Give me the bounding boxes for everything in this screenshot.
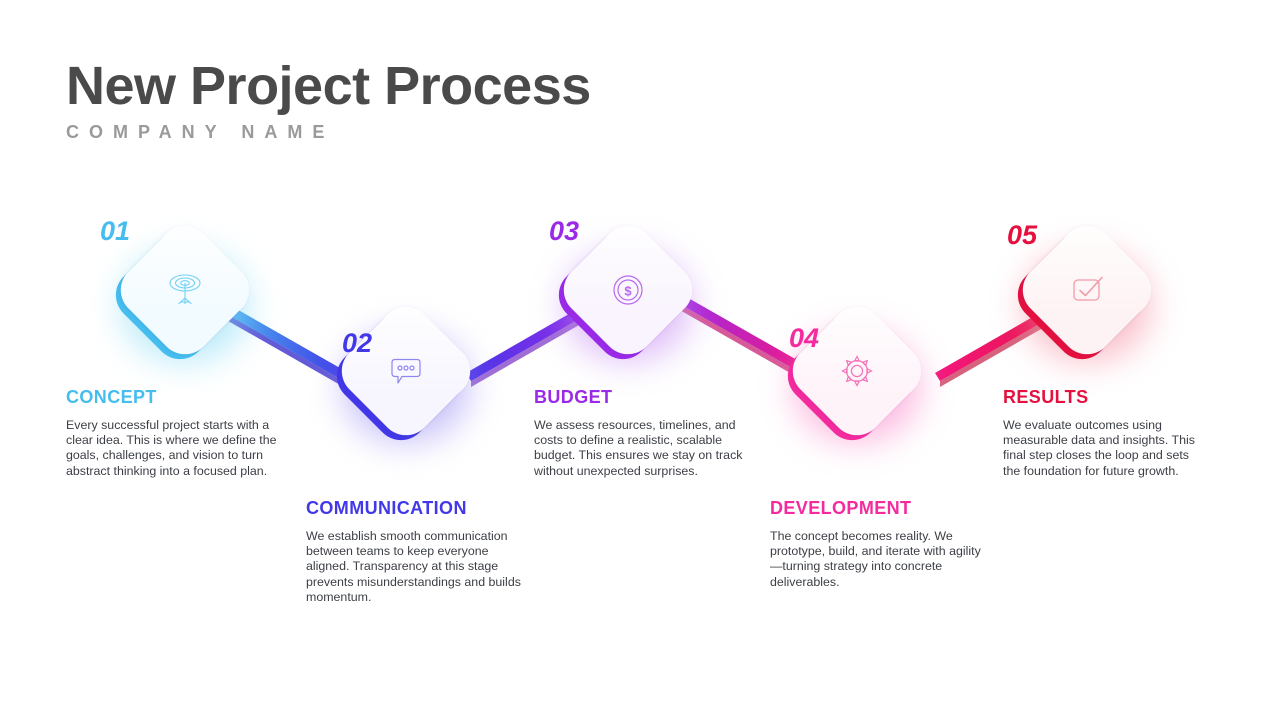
step-number-2: 02 — [342, 330, 372, 357]
step-number-5: 05 — [1007, 222, 1037, 249]
broadcast-tower-icon — [132, 237, 238, 343]
step-heading-4: DEVELOPMENT — [770, 497, 985, 519]
header: New Project Process COMPANY NAME — [66, 56, 591, 143]
check-box-icon — [1034, 237, 1140, 343]
page-title: New Project Process — [66, 56, 591, 116]
step-number-4: 04 — [789, 325, 819, 352]
company-name-subtitle: COMPANY NAME — [66, 122, 591, 143]
step-text-2: COMMUNICATION We establish smooth commun… — [306, 497, 521, 605]
step-description-1: Every successful project starts with a c… — [66, 418, 281, 479]
step-heading-5: RESULTS — [1003, 386, 1208, 408]
step-heading-3: BUDGET — [534, 386, 749, 408]
infographic-canvas: New Project Process COMPANY NAME — [0, 0, 1280, 720]
step-text-1: CONCEPT Every successful project starts … — [66, 386, 281, 479]
step-text-5: RESULTS We evaluate outcomes using measu… — [1003, 386, 1208, 479]
dollar-coin-icon: $ — [575, 237, 681, 343]
step-tile-4[interactable] — [782, 296, 932, 446]
svg-text:$: $ — [624, 284, 632, 299]
step-heading-2: COMMUNICATION — [306, 497, 521, 519]
step-tile-2[interactable] — [331, 296, 481, 446]
step-heading-1: CONCEPT — [66, 386, 281, 408]
gear-icon — [804, 318, 910, 424]
step-text-3: BUDGET We assess resources, timelines, a… — [534, 386, 749, 479]
step-description-2: We establish smooth communication betwee… — [306, 529, 521, 605]
step-description-4: The concept becomes reality. We prototyp… — [770, 529, 985, 590]
step-tile-1[interactable] — [110, 215, 260, 365]
step-number-1: 01 — [100, 218, 130, 245]
step-description-5: We evaluate outcomes using measurable da… — [1003, 418, 1208, 479]
step-description-3: We assess resources, timelines, and cost… — [534, 418, 749, 479]
step-number-3: 03 — [549, 218, 579, 245]
step-text-4: DEVELOPMENT The concept becomes reality.… — [770, 497, 985, 590]
